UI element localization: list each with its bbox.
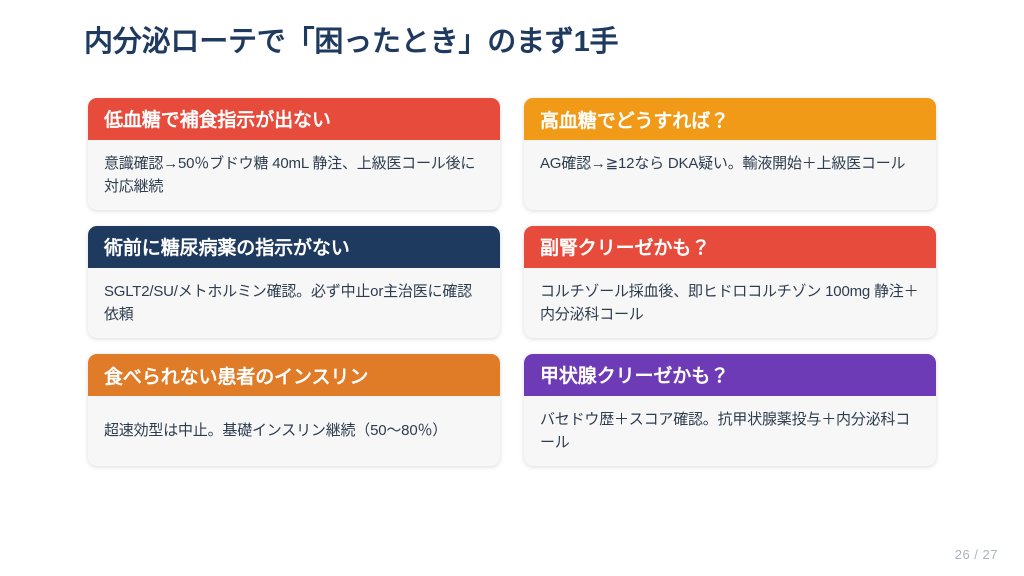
tip-card-body: バセドウ歴＋スコア確認。抗甲状腺薬投与＋内分泌科コール: [524, 396, 936, 467]
tip-card-header: 低血糖で補食指示が出ない: [88, 98, 500, 140]
page-title: 内分泌ローテで「困ったとき」のまず1手: [84, 24, 944, 60]
page-number: 26 / 27: [955, 547, 998, 562]
tip-card-body-text: 超速効型は中止。基礎インスリン継続（50〜80％）: [104, 419, 484, 442]
tip-card-body: AG確認→≧12なら DKA疑い。輸液開始＋上級医コール: [524, 140, 936, 210]
slide-canvas: 内分泌ローテで「困ったとき」のまず1手 低血糖で補食指示が出ない 意識確認→50…: [0, 0, 1024, 576]
tip-card-header: 甲状腺クリーゼかも？: [524, 354, 936, 396]
tip-card-header: 高血糖でどうすれば？: [524, 98, 936, 140]
tip-card-grid: 低血糖で補食指示が出ない 意識確認→50％ブドウ糖 40mL 静注、上級医コール…: [88, 98, 936, 466]
tip-card-body: 意識確認→50％ブドウ糖 40mL 静注、上級医コール後に対応継続: [88, 140, 500, 211]
tip-card-header: 術前に糖尿病薬の指示がない: [88, 226, 500, 268]
tip-card-body-text: SGLT2/SU/メトホルミン確認。必ず中止or主治医に確認依頼: [104, 280, 484, 327]
tip-card-header: 副腎クリーゼかも？: [524, 226, 936, 268]
tip-card[interactable]: 食べられない患者のインスリン 超速効型は中止。基礎インスリン継続（50〜80％）: [88, 354, 500, 466]
tip-card-body-text: コルチゾール採血後、即ヒドロコルチゾン 100mg 静注＋内分泌科コール: [540, 280, 920, 327]
tip-card[interactable]: 低血糖で補食指示が出ない 意識確認→50％ブドウ糖 40mL 静注、上級医コール…: [88, 98, 500, 210]
tip-card-body: 超速効型は中止。基礎インスリン継続（50〜80％）: [88, 396, 500, 466]
tip-card[interactable]: 術前に糖尿病薬の指示がない SGLT2/SU/メトホルミン確認。必ず中止or主治…: [88, 226, 500, 338]
tip-card-body: コルチゾール採血後、即ヒドロコルチゾン 100mg 静注＋内分泌科コール: [524, 268, 936, 339]
tip-card-body: SGLT2/SU/メトホルミン確認。必ず中止or主治医に確認依頼: [88, 268, 500, 339]
tip-card[interactable]: 副腎クリーゼかも？ コルチゾール採血後、即ヒドロコルチゾン 100mg 静注＋内…: [524, 226, 936, 338]
tip-card[interactable]: 甲状腺クリーゼかも？ バセドウ歴＋スコア確認。抗甲状腺薬投与＋内分泌科コール: [524, 354, 936, 466]
tip-card-body-text: バセドウ歴＋スコア確認。抗甲状腺薬投与＋内分泌科コール: [540, 408, 920, 455]
tip-card-body-text: AG確認→≧12なら DKA疑い。輸液開始＋上級医コール: [540, 152, 920, 175]
tip-card-body-text: 意識確認→50％ブドウ糖 40mL 静注、上級医コール後に対応継続: [104, 152, 484, 199]
tip-card-header: 食べられない患者のインスリン: [88, 354, 500, 396]
tip-card[interactable]: 高血糖でどうすれば？ AG確認→≧12なら DKA疑い。輸液開始＋上級医コール: [524, 98, 936, 210]
